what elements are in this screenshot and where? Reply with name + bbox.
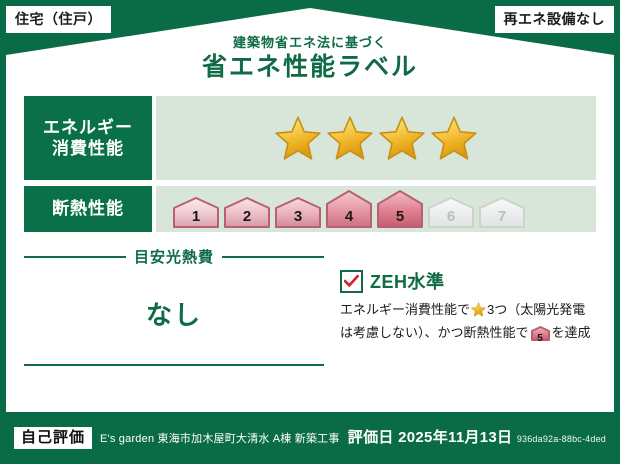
lower-section: 目安光熱費 なし ZEH水準 エネルギー消費性能で3つ（太陽光発電 [24,246,596,366]
badge-dwelling-type: 住宅（住戸） [6,6,111,33]
utility-cost-heading: 目安光熱費 [24,246,324,267]
energy-label-line2: 消費性能 [52,138,124,159]
badge-renewable-equipment: 再エネ設備なし [495,6,615,33]
insulation-level-5: 5 [376,190,424,228]
zeh-heading: ZEH水準 [340,268,596,294]
utility-cost-block: 目安光熱費 なし [24,246,324,366]
star-icon [431,115,477,161]
insulation-level-3: 3 [274,197,322,228]
zeh-title: ZEH水準 [370,268,445,294]
zeh-block: ZEH水準 エネルギー消費性能で3つ（太陽光発電 は考慮しない）、かつ断熱性能で… [324,246,596,347]
zeh-desc-part4: を達成 [552,325,591,340]
insulation-level-7: 7 [478,197,526,228]
insulation-label-text: 断熱性能 [52,198,124,219]
zeh-desc-part1: エネルギー消費性能で [340,302,470,317]
evaluation-id: 936da92a-88bc-4ded [517,434,606,444]
property-name: E's garden 東海市加木屋町大清水 A棟 新築工事 [100,430,340,446]
star-icon [275,115,321,161]
insulation-performance-label: 断熱性能 [24,186,152,232]
utility-cost-value: なし [24,267,324,362]
insulation-level-2: 2 [223,197,271,228]
zeh-checkbox [340,270,363,293]
row-insulation-performance: 断熱性能 1234567 [24,180,596,232]
energy-label-line1: エネルギー [43,117,133,138]
insulation-level-6: 6 [427,197,475,228]
star-rating [275,115,477,161]
insulation-performance-value: 1234567 [156,186,596,232]
energy-label-root: 建築物省エネ法に基づく 省エネ性能ラベル 住宅（住戸） 再エネ設備なし エネルギ… [0,0,620,464]
inline-house-badge: 5 [531,326,550,347]
insulation-level-1: 1 [172,197,220,228]
page-title: 省エネ性能ラベル [0,53,620,82]
insulation-level-4: 4 [325,190,373,228]
row-energy-performance: エネルギー 消費性能 [24,84,596,180]
utility-cost-heading-text: 目安光熱費 [134,246,214,267]
star-icon [327,115,373,161]
insulation-level-scale: 1234567 [172,190,526,228]
energy-performance-label: エネルギー 消費性能 [24,96,152,180]
zeh-desc-part3: は考慮しない）、かつ断熱性能で [340,325,529,340]
zeh-desc-part2: 3つ（太陽光発電 [487,302,585,317]
label-header: 建築物省エネ法に基づく 省エネ性能ラベル [0,36,620,82]
inline-star-icon [471,305,486,320]
utility-cost-underline [24,364,324,366]
heading-rule-left [24,256,126,258]
label-body-card: エネルギー 消費性能 断熱性能 1234567 目安光熱費 [6,84,614,412]
energy-performance-value [156,96,596,180]
footer-evaluation-info: 評価日 2025年11月13日 936da92a-88bc-4ded [348,429,606,447]
heading-rule-right [222,256,324,258]
header-subtitle: 建築物省エネ法に基づく [0,36,620,50]
zeh-description: エネルギー消費性能で3つ（太陽光発電 は考慮しない）、かつ断熱性能で5を達成 [340,300,596,347]
self-evaluation-badge: 自己評価 [14,427,92,449]
label-footer: 自己評価 E's garden 東海市加木屋町大清水 A棟 新築工事 評価日 2… [6,418,614,458]
evaluation-date: 評価日 2025年11月13日 [348,429,513,446]
star-icon [379,115,425,161]
